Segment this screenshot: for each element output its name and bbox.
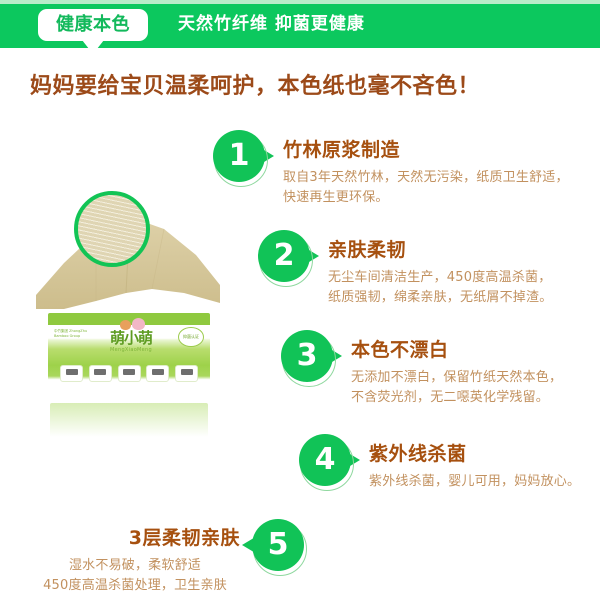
feature-title-3: 本色不漂白 [351,340,449,361]
badge-number: 3 [297,341,318,371]
header-badge-tail-icon [82,40,104,54]
badge-circle: 5 [252,519,304,571]
badge-number: 5 [268,530,289,560]
paper-texture [78,195,146,263]
infographic-page: 健康本色 天然竹纤维 抑菌更健康 妈妈要给宝贝温柔呵护，本色纸也毫不吝色！ [0,0,600,604]
badge-number: 4 [315,445,336,475]
texture-magnifier-icon [74,191,150,267]
box-feature-icon [60,365,83,382]
feature-desc-4: 紫外线杀菌，婴儿可用，妈妈放心。 [369,472,594,492]
box-feature-icon [89,365,112,382]
badge-number: 2 [274,241,295,271]
feature-desc-3: 无添加不漂白，保留竹纸天然本色， 不含荧光剂，无二噁英化学残留。 [351,368,591,407]
badge-circle: 4 [299,434,351,486]
feature-title-2: 亲肤柔韧 [328,240,406,261]
feature-badge-1: 1 [213,130,275,186]
box-feature-icon [175,365,198,382]
header-badge-bubble: 健康本色 [38,9,148,41]
box-feature-icon [118,365,141,382]
page-headline: 妈妈要给宝贝温柔呵护，本色纸也毫不吝色！ [30,73,575,101]
badge-circle: 3 [281,330,333,382]
badge-circle: 1 [213,130,265,182]
feature-title-5: 3层柔韧亲肤 [60,528,240,549]
feature-desc-2: 无尘车间清洁生产，450度高温杀菌， 纸质强韧，绵柔亲肤，无纸屑不掉渣。 [328,268,590,307]
feature-desc-5: 湿水不易破，柔软舒适 450度高温杀菌处理，卫生亲肤 [30,556,240,595]
box-reflection [50,403,208,437]
badge-circle: 2 [258,230,310,282]
header-tagline: 天然竹纤维 抑菌更健康 [178,14,365,34]
brand-pinyin: MengXiaoMeng [96,347,166,353]
feature-badge-4: 4 [299,434,361,490]
corporate-mark: 中竹集团 ZhongZhu Bamboo Group [54,329,90,341]
box-feature-icon [146,365,169,382]
feature-desc-1: 取自3年天然竹林，天然无污染，纸质卫生舒适， 快速再生更环保。 [283,168,583,207]
feature-badge-2: 2 [258,230,320,286]
box-feature-icon-row [60,365,198,382]
feature-badge-3: 3 [281,330,343,386]
tissue-box: 中竹集团 ZhongZhu Bamboo Group 萌小萌 MengXiaoM… [48,313,210,403]
cert-badge: 抑菌认证 [178,327,204,347]
header-badge-label: 健康本色 [56,16,130,34]
feature-badge-5: 5 [252,519,314,575]
feature-title-1: 竹林原浆制造 [283,140,400,161]
badge-number: 1 [229,141,250,171]
product-image: 中竹集团 ZhongZhu Bamboo Group 萌小萌 MengXiaoM… [28,185,228,435]
feature-title-4: 紫外线杀菌 [369,444,467,465]
